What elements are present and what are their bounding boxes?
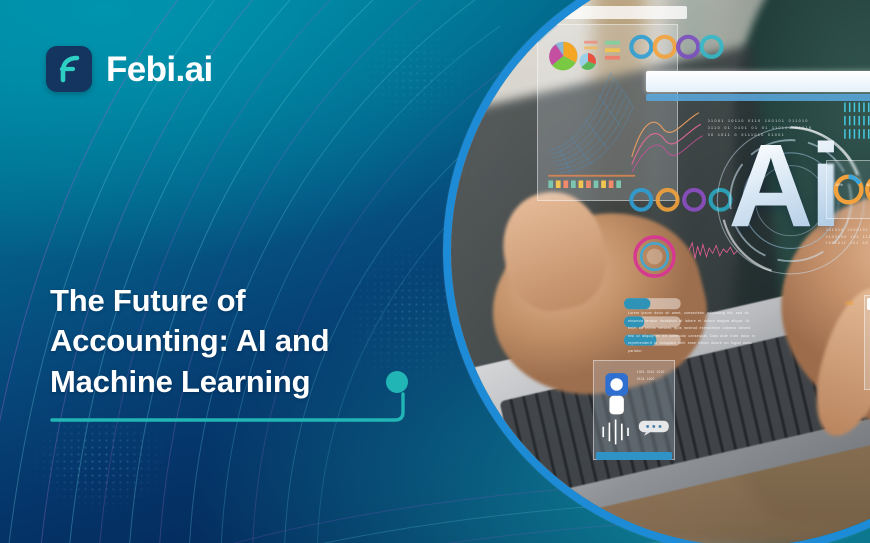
ai-wordmark: Ai (728, 133, 838, 239)
hero-photo: 01001 10110 0110 100101 011010 0110 01 0… (451, 0, 870, 543)
hud-donut-row-top (628, 27, 728, 68)
gauge-label-1: 60% (866, 183, 870, 187)
hero-banner: 01001 10110 0110 100101 011010 0110 01 0… (0, 0, 870, 543)
hud-wave-chart (628, 104, 705, 187)
hud-magenta-gauge (628, 230, 681, 283)
gauge-label-0: 50% (836, 183, 843, 187)
headline-line-1: The Future of (50, 281, 430, 321)
axis-bars (548, 175, 635, 188)
f-monogram-icon (56, 55, 82, 83)
hud-code-badge: 008 (845, 301, 853, 307)
hud-tick-grid (843, 98, 870, 145)
smartwatch-icon (596, 366, 637, 455)
hud-chat-lines: 1001 0110 1010 0101 1100 (637, 369, 672, 410)
surface-mesh-chart (548, 73, 633, 173)
page-title: The Future of Accounting: AI and Machine… (50, 281, 430, 402)
headline-line-2: Accounting: AI and (50, 321, 430, 361)
pie-chart-icon (549, 42, 577, 71)
chat-bubble-icon (637, 416, 672, 440)
hud-search-bar-underline (646, 94, 870, 100)
brand-logo[interactable]: Febi.ai (46, 46, 213, 92)
hud-smartwatch-progress (596, 452, 673, 460)
headline-line-3: Machine Learning (50, 362, 430, 402)
hud-gauge-rings (826, 160, 870, 219)
hud-code-text-2: 001010 1000101 10010 10010100 1011001 01… (826, 227, 870, 262)
hero-photo-circle: 01001 10110 0110 100101 011010 0110 01 0… (443, 0, 870, 543)
hud-search-bar-main (646, 71, 870, 92)
pie-chart-icon-small (579, 53, 596, 70)
febi-logo-icon (46, 46, 92, 92)
ai-hud-overlay: 01001 10110 0110 100101 011010 0110 01 0… (451, 0, 870, 543)
brand-name: Febi.ai (106, 52, 213, 87)
hud-search-bar-small (563, 6, 687, 19)
halftone-dots-bottom-left (5, 395, 195, 530)
